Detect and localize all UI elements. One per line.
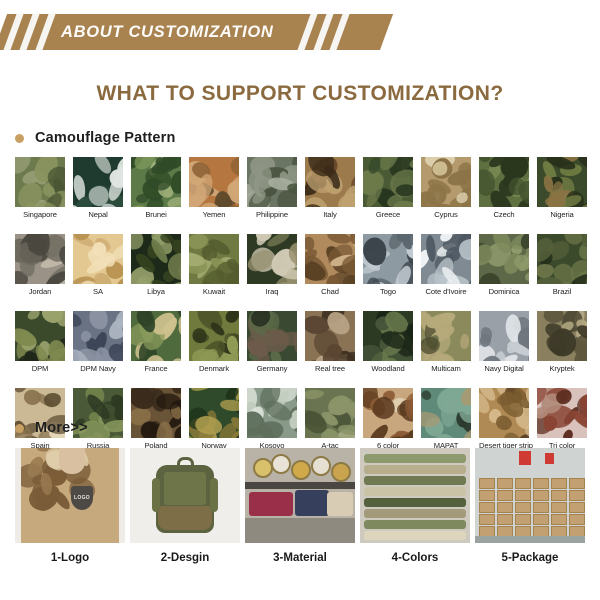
carton-box bbox=[497, 478, 513, 489]
camouflage-swatch-image[interactable] bbox=[247, 234, 297, 284]
camouflage-pattern-label: Dominica bbox=[479, 287, 529, 297]
camouflage-pattern-item[interactable]: Woodland bbox=[363, 311, 413, 374]
camouflage-swatch-image[interactable] bbox=[189, 157, 239, 207]
product-step-label: 5-Package bbox=[475, 552, 585, 564]
camouflage-pattern-label: Libya bbox=[131, 287, 181, 297]
camouflage-pattern-item[interactable]: 6 color bbox=[363, 388, 413, 451]
page-header-banner: ABOUT CUSTOMIZATION bbox=[0, 14, 600, 50]
camouflage-pattern-label: Denmark bbox=[189, 364, 239, 374]
fabric-stack-roll bbox=[364, 498, 466, 507]
camouflage-pattern-item[interactable]: Chad bbox=[305, 234, 355, 297]
camouflage-pattern-item[interactable]: SA bbox=[73, 234, 123, 297]
camouflage-swatch-image[interactable] bbox=[189, 311, 239, 361]
camouflage-pattern-label: Greece bbox=[363, 210, 413, 220]
camouflage-swatch-image[interactable] bbox=[189, 234, 239, 284]
product-step-label: 1-Logo bbox=[15, 552, 125, 564]
carton-box bbox=[479, 478, 495, 489]
camouflage-pattern-label: Italy bbox=[305, 210, 355, 220]
camouflage-pattern-item[interactable]: Poland bbox=[131, 388, 181, 451]
camouflage-pattern-label: DPM bbox=[15, 364, 65, 374]
camouflage-pattern-label: Iraq bbox=[247, 287, 297, 297]
carton-box bbox=[551, 502, 567, 513]
camouflage-pattern-label: Jordan bbox=[15, 287, 65, 297]
camouflage-pattern-label: Nigeria bbox=[537, 210, 587, 220]
fabric-stack-roll bbox=[364, 520, 466, 529]
section-label-camouflage: Camouflage Pattern bbox=[35, 130, 176, 146]
product-step-image[interactable] bbox=[245, 448, 355, 543]
camouflage-pattern-item[interactable]: Real tree bbox=[305, 311, 355, 374]
camouflage-pattern-label: SA bbox=[73, 287, 123, 297]
section-heading-camouflage: Camouflage Pattern bbox=[15, 130, 176, 146]
camouflage-swatch-image[interactable] bbox=[305, 311, 355, 361]
banner-title: ABOUT CUSTOMIZATION bbox=[61, 14, 274, 50]
floor-area bbox=[245, 518, 355, 543]
camouflage-swatch-image[interactable] bbox=[421, 311, 471, 361]
fabric-roll-end bbox=[291, 460, 311, 480]
camouflage-swatch-image[interactable] bbox=[247, 157, 297, 207]
camouflage-swatch-image[interactable] bbox=[363, 311, 413, 361]
fabric-stack-roll bbox=[364, 487, 466, 496]
camouflage-swatch-image[interactable] bbox=[73, 234, 123, 284]
camouflage-pattern-label: Brazil bbox=[537, 287, 587, 297]
camouflage-pattern-item[interactable]: Libya bbox=[131, 234, 181, 297]
camouflage-swatch-image[interactable] bbox=[537, 311, 587, 361]
product-showcase-row: LOGO1-Logo2-Desgin3-Material4-Colors5-Pa… bbox=[15, 448, 585, 564]
fabric-stack-roll bbox=[364, 476, 466, 485]
product-step-image[interactable] bbox=[130, 448, 240, 543]
camouflage-pattern-grid: SingaporeNepalBruneiYemenPhilippineItaly… bbox=[15, 157, 585, 451]
logo-patch: LOGO bbox=[71, 486, 93, 510]
camouflage-pattern-item[interactable]: Iraq bbox=[247, 234, 297, 297]
warehouse-floor bbox=[475, 536, 585, 543]
carton-box bbox=[569, 502, 585, 513]
camouflage-pattern-item[interactable]: Brunei bbox=[131, 157, 181, 220]
product-step-image[interactable]: LOGO bbox=[15, 448, 125, 543]
camouflage-swatch-image[interactable] bbox=[15, 311, 65, 361]
warehouse-sign bbox=[519, 451, 531, 465]
camouflage-pattern-label: DPM Navy bbox=[73, 364, 123, 374]
fabric-roll-end bbox=[253, 458, 273, 478]
carton-box bbox=[569, 490, 585, 501]
fabric-stack-roll bbox=[364, 531, 466, 540]
camouflage-swatch-image[interactable] bbox=[305, 388, 355, 438]
carton-box bbox=[569, 478, 585, 489]
camouflage-pattern-item[interactable]: Nigeria bbox=[537, 157, 587, 220]
backpack-lower-pocket bbox=[158, 506, 212, 530]
camouflage-pattern-label: Yemen bbox=[189, 210, 239, 220]
camouflage-pattern-item[interactable]: Italy bbox=[305, 157, 355, 220]
carton-box bbox=[515, 502, 531, 513]
camouflage-pattern-item[interactable]: DPM bbox=[15, 311, 65, 374]
carton-box bbox=[551, 490, 567, 501]
carton-box bbox=[533, 514, 549, 525]
camouflage-pattern-item[interactable]: Brazil bbox=[537, 234, 587, 297]
camouflage-pattern-item[interactable]: DPM Navy bbox=[73, 311, 123, 374]
camouflage-swatch-image[interactable] bbox=[15, 234, 65, 284]
product-step-item[interactable]: 3-Material bbox=[245, 448, 355, 564]
camouflage-pattern-label: Kuwait bbox=[189, 287, 239, 297]
camouflage-pattern-item[interactable]: Yemen bbox=[189, 157, 239, 220]
camouflage-pattern-item[interactable]: Norway bbox=[189, 388, 239, 451]
section-label-more: More>> bbox=[35, 420, 88, 436]
fabric-bolt-navy bbox=[295, 490, 329, 516]
camouflage-swatch-image[interactable] bbox=[479, 388, 529, 438]
camouflage-pattern-label: Brunei bbox=[131, 210, 181, 220]
camouflage-pattern-item[interactable]: Germany bbox=[247, 311, 297, 374]
camouflage-pattern-label: Germany bbox=[247, 364, 297, 374]
camouflage-swatch-image[interactable] bbox=[189, 388, 239, 438]
customization-info-page: ABOUT CUSTOMIZATION WHAT TO SUPPORT CUST… bbox=[0, 0, 600, 600]
camouflage-pattern-label: Woodland bbox=[363, 364, 413, 374]
camouflage-swatch-image[interactable] bbox=[305, 234, 355, 284]
camouflage-pattern-item[interactable]: Togo bbox=[363, 234, 413, 297]
camouflage-pattern-label: Nepal bbox=[73, 210, 123, 220]
carton-box bbox=[479, 514, 495, 525]
camouflage-pattern-item[interactable]: Multicam bbox=[421, 311, 471, 374]
camouflage-pattern-label: Chad bbox=[305, 287, 355, 297]
carton-box bbox=[497, 490, 513, 501]
carton-box bbox=[497, 514, 513, 525]
camouflage-swatch-image[interactable] bbox=[247, 311, 297, 361]
fabric-stack-roll bbox=[364, 465, 466, 474]
camouflage-pattern-item[interactable]: Philippine bbox=[247, 157, 297, 220]
camouflage-swatch-image[interactable] bbox=[363, 388, 413, 438]
camouflage-pattern-item[interactable]: Tri color bbox=[537, 388, 587, 451]
fabric-roll-end bbox=[271, 454, 291, 474]
backpack-left-strap bbox=[152, 478, 160, 512]
warehouse-sign bbox=[545, 453, 554, 464]
camouflage-swatch-image[interactable] bbox=[305, 157, 355, 207]
camouflage-pattern-label: France bbox=[131, 364, 181, 374]
fabric-stack-roll bbox=[364, 509, 466, 518]
carton-box bbox=[533, 490, 549, 501]
camouflage-pattern-item[interactable]: Greece bbox=[363, 157, 413, 220]
fabric-bolt-red bbox=[249, 492, 293, 516]
carton-box bbox=[533, 502, 549, 513]
camouflage-pattern-item[interactable]: Czech bbox=[479, 157, 529, 220]
fabric-roll-end bbox=[311, 456, 331, 476]
camouflage-swatch-image[interactable] bbox=[421, 157, 471, 207]
product-step-label: 4-Colors bbox=[360, 552, 470, 564]
camouflage-pattern-item[interactable]: Navy Digital bbox=[479, 311, 529, 374]
page-title: WHAT TO SUPPORT CUSTOMIZATION? bbox=[0, 82, 600, 106]
camouflage-swatch-image[interactable] bbox=[479, 311, 529, 361]
camouflage-pattern-item[interactable]: Desert tiger strip bbox=[479, 388, 529, 451]
fabric-bolt-cream bbox=[327, 492, 353, 516]
carton-box bbox=[533, 478, 549, 489]
product-step-label: 3-Material bbox=[245, 552, 355, 564]
carton-box bbox=[515, 514, 531, 525]
camouflage-pattern-label: Real tree bbox=[305, 364, 355, 374]
carton-box bbox=[515, 478, 531, 489]
camouflage-swatch-image[interactable] bbox=[363, 157, 413, 207]
backpack-front-panel bbox=[164, 472, 206, 505]
carton-box bbox=[479, 502, 495, 513]
camouflage-pattern-label: Cyprus bbox=[421, 210, 471, 220]
camouflage-swatch-image[interactable] bbox=[363, 234, 413, 284]
fabric-roll-end bbox=[331, 462, 351, 482]
bullet-dot-icon bbox=[15, 134, 24, 143]
camouflage-pattern-label: Philippine bbox=[247, 210, 297, 220]
camouflage-swatch-image[interactable] bbox=[131, 234, 181, 284]
camouflage-pattern-item[interactable]: Cote d'Ivoire bbox=[421, 234, 471, 297]
camouflage-pattern-label: Singapore bbox=[15, 210, 65, 220]
camouflage-swatch-image[interactable] bbox=[131, 311, 181, 361]
camouflage-pattern-item[interactable]: Kryptek bbox=[537, 311, 587, 374]
product-step-image[interactable] bbox=[360, 448, 470, 543]
carton-box bbox=[551, 514, 567, 525]
bullet-dot-icon bbox=[15, 424, 24, 433]
carton-box bbox=[497, 502, 513, 513]
product-step-label: 2-Desgin bbox=[130, 552, 240, 564]
camouflage-pattern-item[interactable]: Singapore bbox=[15, 157, 65, 220]
camouflage-pattern-item[interactable]: France bbox=[131, 311, 181, 374]
camouflage-swatch-image[interactable] bbox=[73, 157, 123, 207]
camouflage-pattern-item[interactable]: Dominica bbox=[479, 234, 529, 297]
camouflage-pattern-item[interactable]: Denmark bbox=[189, 311, 239, 374]
carton-box bbox=[569, 514, 585, 525]
camouflage-pattern-item[interactable]: Nepal bbox=[73, 157, 123, 220]
camouflage-swatch-image[interactable] bbox=[479, 234, 529, 284]
shelf-bar bbox=[245, 482, 355, 489]
camouflage-pattern-label: Multicam bbox=[421, 364, 471, 374]
camouflage-pattern-label: Kryptek bbox=[537, 364, 587, 374]
camouflage-pattern-item[interactable]: Jordan bbox=[15, 234, 65, 297]
camouflage-swatch-image[interactable] bbox=[131, 157, 181, 207]
camouflage-swatch-image[interactable] bbox=[73, 311, 123, 361]
product-step-item[interactable]: 5-Package bbox=[475, 448, 585, 564]
product-step-item[interactable]: LOGO1-Logo bbox=[15, 448, 125, 564]
camouflage-pattern-label: Czech bbox=[479, 210, 529, 220]
camouflage-swatch-image[interactable] bbox=[15, 157, 65, 207]
camouflage-swatch-image[interactable] bbox=[537, 388, 587, 438]
product-step-item[interactable]: 2-Desgin bbox=[130, 448, 240, 564]
camouflage-pattern-item[interactable]: Kuwait bbox=[189, 234, 239, 297]
camouflage-pattern-item[interactable]: A-tac bbox=[305, 388, 355, 451]
camouflage-swatch-image[interactable] bbox=[247, 388, 297, 438]
product-step-image[interactable] bbox=[475, 448, 585, 543]
fabric-stack-roll bbox=[364, 454, 466, 463]
carton-box bbox=[551, 478, 567, 489]
camouflage-pattern-item[interactable]: Kosovo bbox=[247, 388, 297, 451]
camouflage-swatch-image[interactable] bbox=[421, 234, 471, 284]
carton-box bbox=[479, 490, 495, 501]
camouflage-pattern-label: Cote d'Ivoire bbox=[421, 287, 471, 297]
camouflage-pattern-label: Togo bbox=[363, 287, 413, 297]
backpack-right-strap bbox=[210, 478, 218, 512]
camouflage-swatch-image[interactable] bbox=[479, 157, 529, 207]
camouflage-swatch-image[interactable] bbox=[131, 388, 181, 438]
section-heading-more: More>> bbox=[15, 420, 88, 436]
camouflage-pattern-label: Navy Digital bbox=[479, 364, 529, 374]
camouflage-swatch-image[interactable] bbox=[537, 157, 587, 207]
camouflage-pattern-item[interactable]: Cyprus bbox=[421, 157, 471, 220]
camouflage-swatch-image[interactable] bbox=[421, 388, 471, 438]
product-step-item[interactable]: 4-Colors bbox=[360, 448, 470, 564]
carton-box bbox=[515, 490, 531, 501]
collar-shape bbox=[59, 448, 85, 474]
camouflage-swatch-image[interactable] bbox=[537, 234, 587, 284]
camouflage-pattern-item[interactable]: MAPAT bbox=[421, 388, 471, 451]
